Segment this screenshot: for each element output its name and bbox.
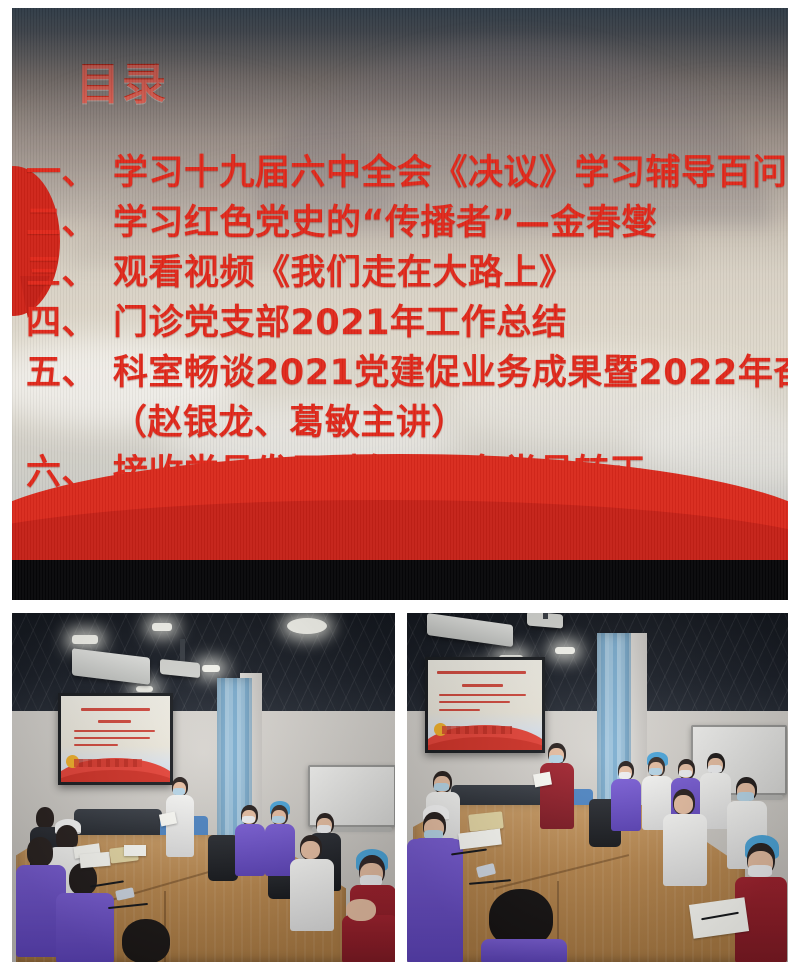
agenda-item-4: 四、门诊党支部2021年工作总结 [26,298,788,348]
face-mask [708,765,722,773]
screen-text-line [462,684,503,687]
face-mask [737,792,754,801]
projector-mount [543,613,548,619]
screen-text-line [81,708,151,711]
purple-uniform [235,824,265,876]
head [122,919,170,962]
projection-screen [58,693,173,785]
screen-text-line [437,671,526,674]
ceiling-light [152,623,172,631]
attendee [234,805,266,875]
conference-room-scene [12,613,395,962]
presenter [539,743,575,829]
agenda-number: 三、 [26,253,97,293]
red-wave-decoration [12,432,788,562]
face-mask [242,816,255,823]
purple-uniform [611,779,641,831]
ceiling-light [555,647,575,654]
face-mask [649,768,662,775]
projector-mount [180,639,185,663]
meeting-photo-right [407,613,788,962]
hands [346,899,376,921]
screen-text-line [439,709,480,711]
attendee [116,913,182,962]
white-coat [290,859,334,931]
attendee [56,863,112,962]
face-mask [549,755,563,763]
agenda-text: 学习红色党史的“传播者”—金春燮 [113,203,657,243]
agenda-number: 二、 [26,203,97,243]
screen-text-line [439,694,526,696]
face-mask [272,816,285,823]
presenter [164,777,198,859]
agenda-text: 学习十九届六中全会《决议》学习辅导百问 [113,153,788,193]
projection-screen [425,657,545,753]
purple-uniform [407,839,463,962]
slide-title: 目录 [76,48,168,112]
agenda-item-3: 三、观看视频《我们走在大路上》 [26,248,788,298]
screen-text-line [98,720,131,723]
head [27,837,53,867]
face [674,795,693,814]
ceiling-light [136,686,153,692]
attendee [407,839,461,962]
attendee [342,899,395,962]
agenda-number: 五、 [26,353,97,393]
ceiling-light [202,665,220,672]
agenda-item-5: 五、科室畅谈2021党建促业务成果暨2022年奋斗 [26,348,788,398]
face-mask [173,788,185,795]
screen-text-line [74,744,118,746]
attendee [663,789,707,885]
meeting-photo-row [0,613,800,963]
face-mask [679,770,692,777]
white-coat [663,814,707,886]
attendee [290,835,334,931]
white-coat [166,795,194,857]
purple-uniform [56,893,114,962]
red-jacket [342,915,395,962]
agenda-item-1: 一、学习十九届六中全会《决议》学习辅导百问 [26,148,788,198]
photo-collage: 目录 一、学习十九届六中全会《决议》学习辅导百问 二、学习红色党史的“传播者”—… [0,0,800,973]
screen-skyline [442,726,513,734]
conference-room-scene [407,613,788,962]
face [301,841,320,859]
ceiling-light [287,618,327,634]
attendee [611,761,641,831]
agenda-number: 一、 [26,153,97,193]
ceiling-light [72,635,98,644]
screen-skyline [74,759,142,767]
face-mask [619,772,631,779]
document [124,845,146,856]
attendee [481,885,567,962]
meeting-photo-left [12,613,395,962]
agenda-text: 科室畅谈2021党建促业务成果暨2022年奋斗 [113,353,788,393]
agenda-text: 门诊党支部2021年工作总结 [113,303,567,343]
face-mask [434,783,449,791]
face-mask [317,825,331,833]
screen-text-line [74,737,150,739]
agenda-slide-photo: 目录 一、学习十九届六中全会《决议》学习辅导百问 二、学习红色党史的“传播者”—… [12,8,788,600]
agenda-item-2: 二、学习红色党史的“传播者”—金春燮 [26,198,788,248]
agenda-text: 观看视频《我们走在大路上》 [113,253,575,293]
face-mask [748,865,772,877]
purple-uniform [481,939,567,962]
agenda-number: 四、 [26,303,97,343]
document-stack [79,852,110,869]
projector-letterbox [12,560,788,600]
